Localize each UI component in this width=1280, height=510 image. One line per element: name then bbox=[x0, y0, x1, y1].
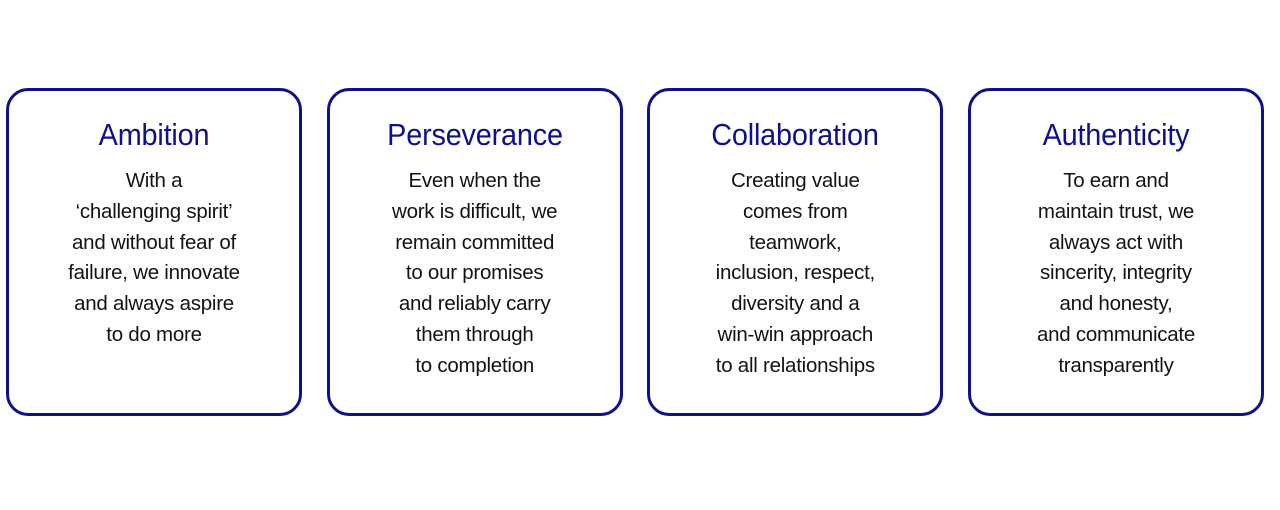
value-card-description: To earn and maintain trust, we always ac… bbox=[979, 166, 1253, 382]
core-values-board: Ambition With a ‘challenging spirit’ and… bbox=[0, 0, 1280, 510]
value-card-title: Authenticity bbox=[989, 118, 1244, 152]
value-card-title: Collaboration bbox=[668, 118, 923, 152]
value-card-description: Even when the work is difficult, we rema… bbox=[338, 166, 612, 382]
value-card-description: Creating value comes from teamwork, incl… bbox=[658, 166, 932, 382]
value-card-title: Perseverance bbox=[347, 118, 602, 152]
value-card-ambition: Ambition With a ‘challenging spirit’ and… bbox=[6, 88, 302, 416]
value-card-perseverance: Perseverance Even when the work is diffi… bbox=[327, 88, 623, 416]
value-card-authenticity: Authenticity To earn and maintain trust,… bbox=[968, 88, 1264, 416]
value-card-description: With a ‘challenging spirit’ and without … bbox=[17, 166, 291, 351]
value-card-collaboration: Collaboration Creating value comes from … bbox=[647, 88, 943, 416]
value-card-title: Ambition bbox=[27, 118, 282, 152]
value-cards-row: Ambition With a ‘challenging spirit’ and… bbox=[6, 88, 1264, 416]
